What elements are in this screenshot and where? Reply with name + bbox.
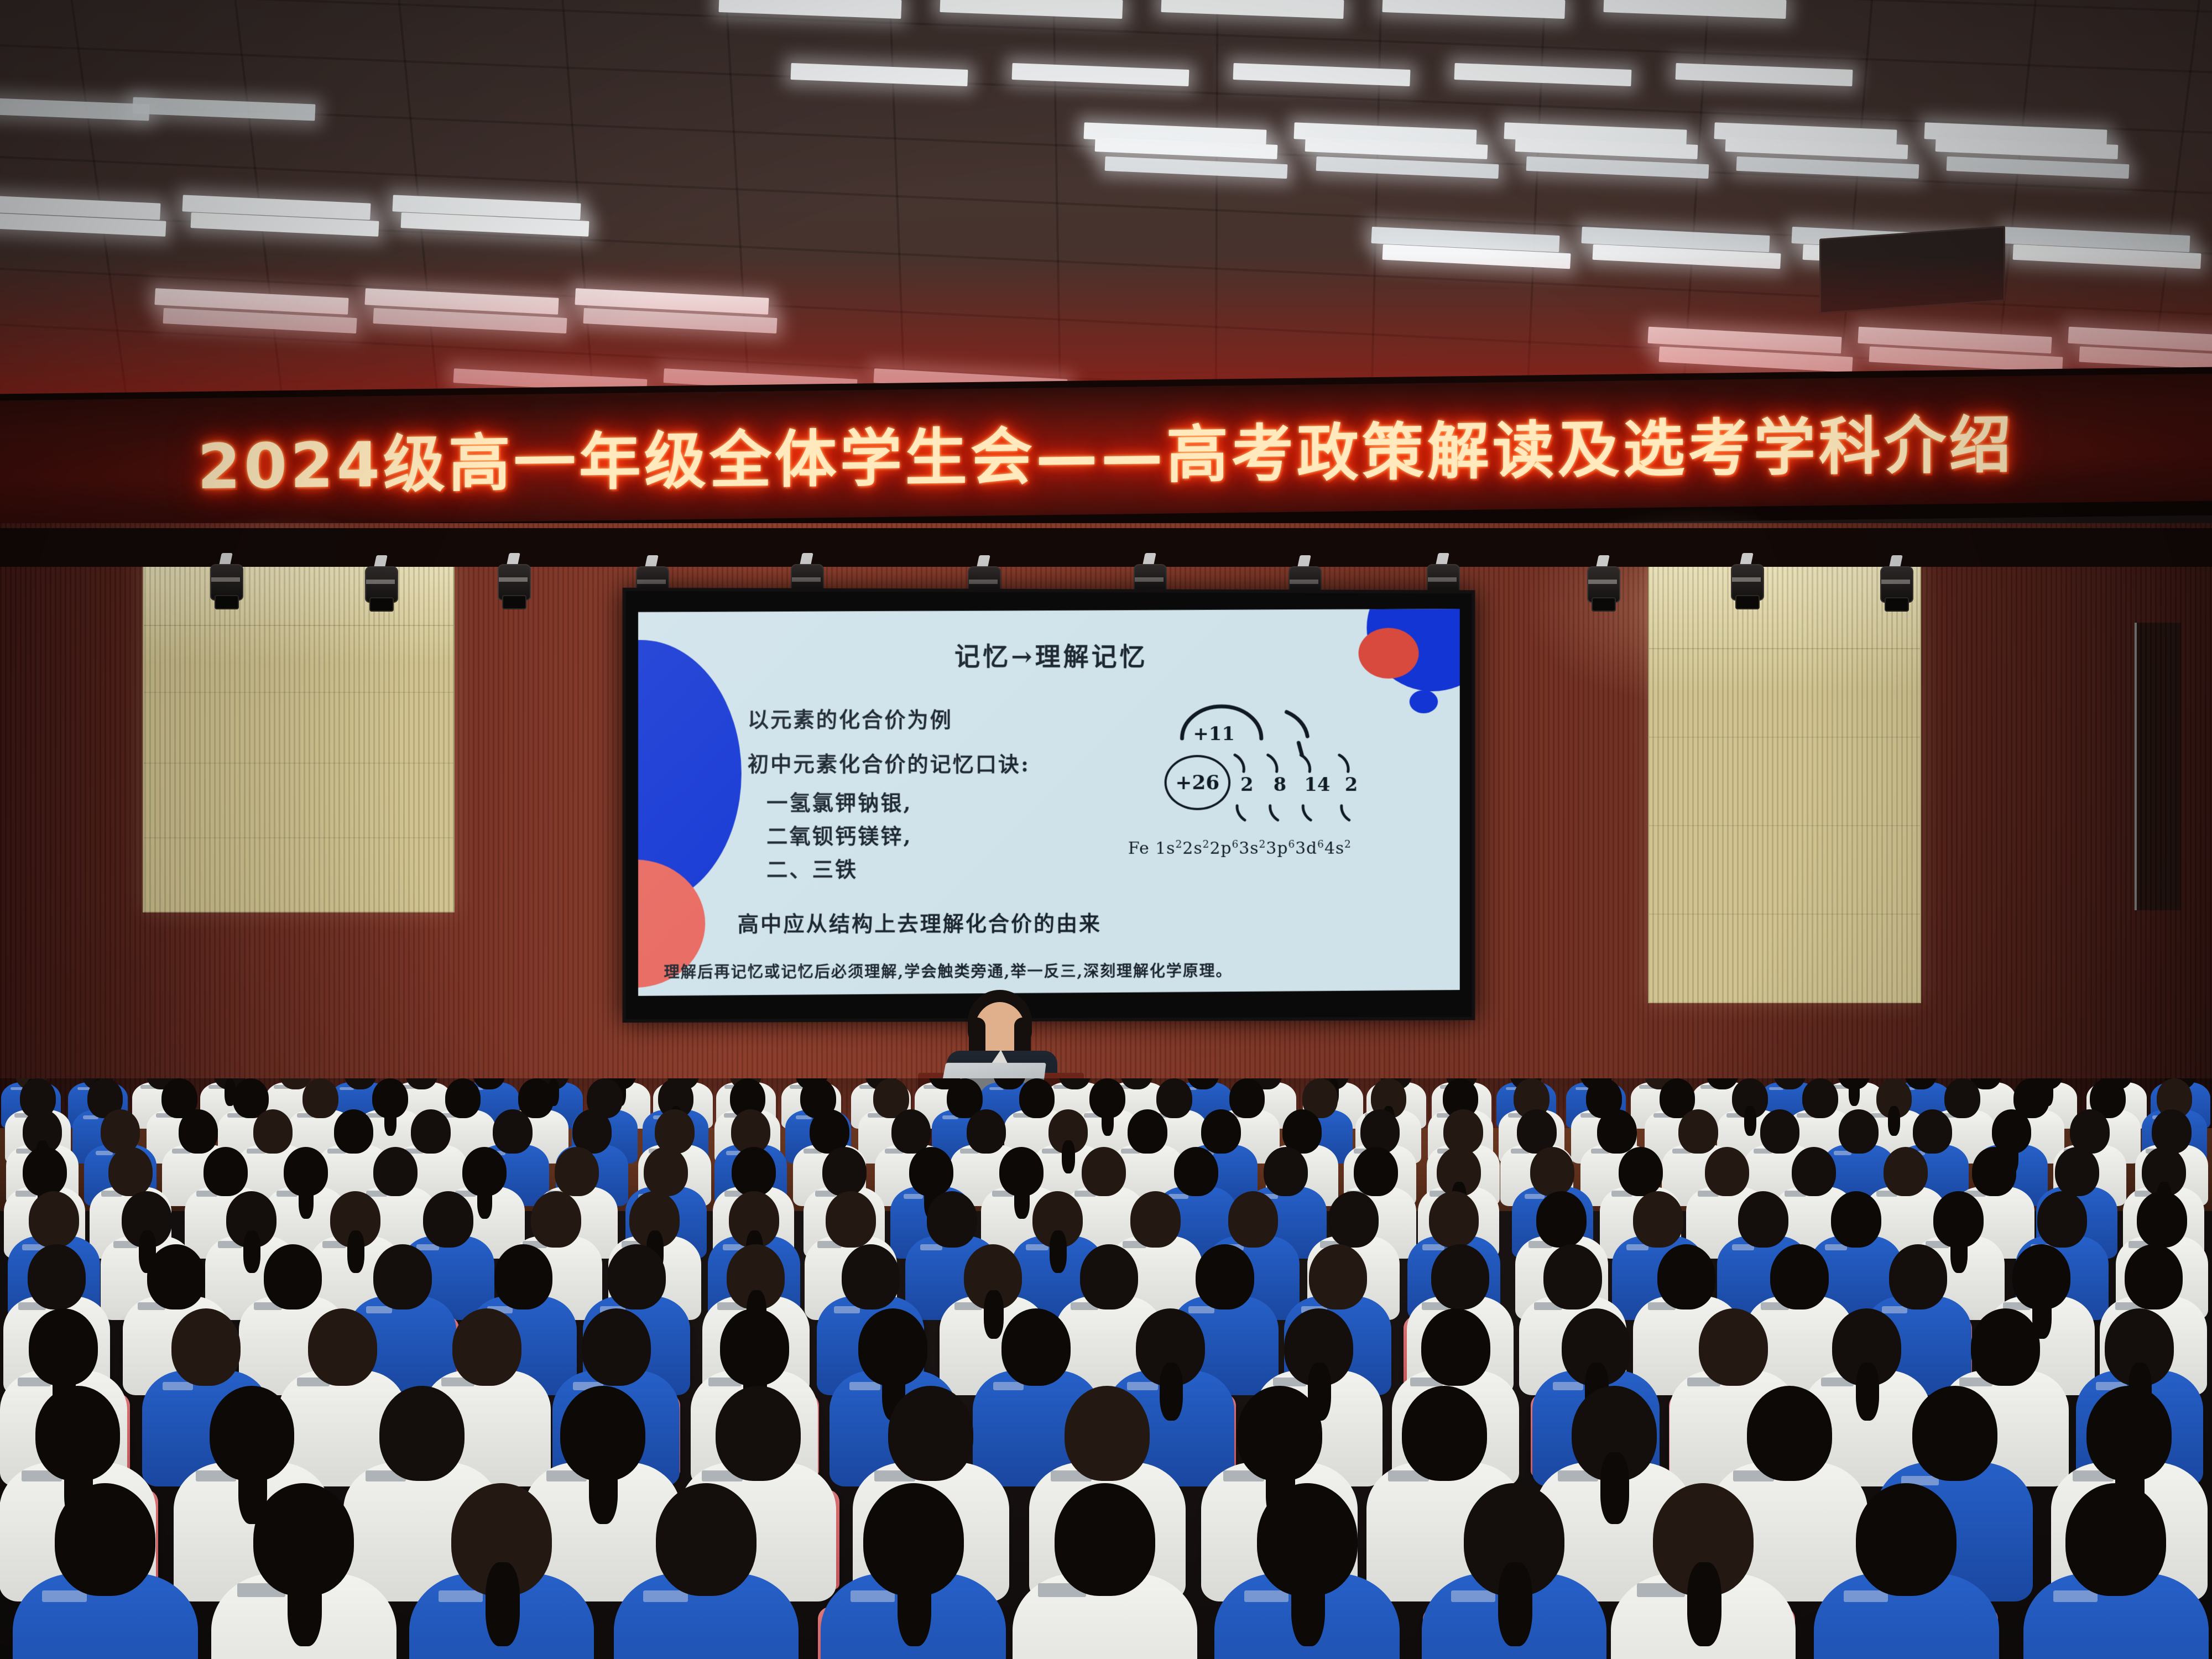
audience-student-head <box>2055 1147 2099 1197</box>
audience-student-head <box>1354 1147 1398 1197</box>
audience-student-head <box>28 1244 86 1310</box>
audience-student-head <box>264 1244 322 1310</box>
acoustic-panel-right <box>1648 559 1921 1003</box>
audience-student-head <box>1174 1147 1218 1197</box>
audience-student-ponytail <box>243 1230 260 1272</box>
audience-student-head <box>1597 1109 1636 1154</box>
audience-student-head <box>1128 1109 1167 1154</box>
shell-count-2: 8 <box>1274 774 1287 796</box>
atom-nucleus: +26 <box>1165 755 1230 810</box>
audience-student-head <box>607 1244 665 1310</box>
slide-decor-blue-dot <box>1410 690 1438 713</box>
audience-student-ponytail <box>984 1290 1004 1339</box>
audience-student-ponytail <box>1849 1079 1860 1106</box>
audience-student-head <box>493 1109 532 1154</box>
audience-student-head <box>582 1308 651 1386</box>
audience-student-head <box>1536 1191 1587 1248</box>
audience-student-head <box>1944 1078 1980 1118</box>
audience-student-head <box>1080 1244 1138 1310</box>
shell-count-3: 14 <box>1304 774 1330 796</box>
audience-student-head <box>373 1147 418 1197</box>
audience-student-head <box>1972 1147 2016 1197</box>
audience-student-head <box>1543 1244 1601 1310</box>
audience-student-head <box>452 1308 521 1386</box>
audience-student-ponytail <box>1888 1106 1900 1136</box>
audience-student-head <box>2137 1191 2187 1248</box>
audience-student-ponytail <box>1744 1106 1756 1136</box>
audience-student-head <box>494 1244 552 1310</box>
audience-student-head <box>1156 1078 1192 1118</box>
stage-spotlight <box>1880 555 1911 613</box>
audience-student-ponytail <box>1687 1562 1721 1647</box>
audience-student-head <box>2152 1109 2191 1154</box>
audience-student-head <box>1770 1244 1828 1310</box>
audience-student-head <box>1678 1109 1718 1154</box>
presentation-slide: 记忆→理解记忆 以元素的化合价为例 初中元素化合价的记忆口诀: 一氢氯钾钠银, … <box>638 607 1460 996</box>
audience-student-head <box>1055 1483 1155 1596</box>
audience-student-head <box>1402 1386 1487 1481</box>
audience-student-head <box>204 1147 248 1197</box>
audience-student-head <box>445 1078 481 1118</box>
audience-student-ponytail <box>1050 1230 1067 1272</box>
audience-student-head <box>891 1109 931 1154</box>
banner-title-text: 2024级高一年级全体学生会——高考政策解读及选考学科介绍 <box>0 393 2212 509</box>
audience-student-head <box>1705 1147 1749 1197</box>
stage-spotlight <box>1587 555 1618 613</box>
audience-student-ponytail <box>1600 1452 1629 1524</box>
audience-student-head <box>1328 1191 1379 1248</box>
audience-student-head <box>531 1191 581 1248</box>
audience-student-head <box>108 1147 153 1197</box>
side-door <box>2135 623 2181 910</box>
audience-student-head <box>1001 1308 1071 1386</box>
audience-student-ponytail <box>288 1562 322 1647</box>
audience-student-head <box>147 1244 205 1310</box>
audience-student-head <box>1889 1244 1947 1310</box>
audience-student-head <box>1196 1244 1254 1310</box>
audience-student-head <box>55 1483 155 1596</box>
audience-student-head <box>1309 1244 1367 1310</box>
audience-student-head <box>334 1109 373 1154</box>
audience-student-head <box>1971 1308 2040 1386</box>
slide-mnemonic-line-1: 一氢氯钾钠银, <box>766 786 912 816</box>
audience-student-head <box>1228 1191 1279 1248</box>
audience-student-head <box>1738 1191 1788 1248</box>
audience-student-ponytail <box>1498 1562 1532 1647</box>
audience-student-head <box>555 1147 599 1197</box>
ceiling <box>0 0 2212 420</box>
audience-student-head <box>927 1191 977 1248</box>
audience-student-head <box>1431 1244 1489 1310</box>
audience-student-head <box>1802 1078 1838 1118</box>
audience-student-ponytail <box>1291 1562 1326 1647</box>
audience-student-head <box>411 1109 450 1154</box>
audience-student-head <box>302 1078 338 1118</box>
audience-student-head <box>29 1191 79 1248</box>
audience-student-head <box>1019 1078 1055 1118</box>
audience-student-head <box>1913 1109 1952 1154</box>
audience-student-head <box>842 1244 900 1310</box>
slide-decor-blue-topright <box>1366 607 1459 691</box>
slide-mnemonic-heading: 初中元素化合价的记忆口诀: <box>748 747 1030 778</box>
audience-student-ponytail <box>898 1562 932 1647</box>
stage-spotlight <box>1731 553 1762 611</box>
audience-student-head <box>2125 1244 2183 1310</box>
slide-decor-red-topright <box>1359 628 1419 679</box>
audience-student-ponytail <box>589 1452 618 1524</box>
audience-student-head <box>1229 1078 1265 1118</box>
electron-configuration: Fe 1s22s22p63s23p63d64s2 <box>1128 839 1352 858</box>
slide-title: 记忆→理解记忆 <box>638 635 1460 674</box>
audience-student-ponytail <box>486 1562 520 1647</box>
audience-student-head <box>1619 1147 1663 1197</box>
audience-seating <box>0 1078 2212 1659</box>
audience-student-head <box>2065 1483 2166 1596</box>
audience-student-head <box>826 1191 876 1248</box>
slide-mnemonic-line-2: 二氧钡钙镁锌, <box>766 819 912 849</box>
audience-student-head <box>518 1078 554 1118</box>
audience-student-head <box>1884 1147 1928 1197</box>
audience-student-head <box>1633 1191 1683 1248</box>
audience-student-head <box>1856 1483 1957 1596</box>
audience-student-head <box>1831 1191 1881 1248</box>
audience-student-ponytail <box>1102 1106 1114 1136</box>
audience-student-head <box>1429 1191 1479 1248</box>
audience-student-head <box>888 1386 973 1481</box>
audience-student-head <box>1912 1386 1997 1481</box>
slide-decor-red-left <box>638 859 705 988</box>
audience-student-head <box>1065 1386 1150 1481</box>
audience-student-ponytail <box>1014 1182 1029 1219</box>
audience-student-head <box>308 1308 377 1386</box>
audience-student-head <box>1530 1147 1574 1197</box>
audience-student-head <box>967 1109 1006 1154</box>
bohr-atom-diagram: +11 +26 2 8 14 2 <box>1160 702 1396 829</box>
audience-student-ponytail <box>477 1182 492 1219</box>
stage-spotlight <box>210 553 241 611</box>
audience-student-head <box>1264 1147 1308 1197</box>
audience-student-head <box>179 1109 218 1154</box>
atom-annotation: +11 <box>1193 723 1234 745</box>
slide-example-label: 以元素的化合价为例 <box>748 702 953 733</box>
audience-student-head <box>644 1147 688 1197</box>
audience-student-head <box>732 1147 776 1197</box>
audience-student-ponytail <box>384 1106 397 1136</box>
slide-highschool-line: 高中应从结构上去理解化合价的由来 <box>738 906 1102 937</box>
shell-count-1: 2 <box>1240 774 1254 796</box>
audience-student-head <box>1760 1109 1799 1154</box>
slide-decor-blue-left <box>638 640 742 907</box>
stage-spotlight <box>365 555 396 613</box>
audience-student-head <box>1201 1109 1240 1154</box>
projection-screen: 记忆→理解记忆 以元素的化合价为例 初中元素化合价的记忆口诀: 一氢氯钾钠银, … <box>623 588 1475 1023</box>
audience-student-ponytail <box>347 1230 364 1272</box>
shell-count-4: 2 <box>1345 774 1358 796</box>
audience-student-head <box>373 1244 431 1310</box>
audience-student-ponytail <box>1950 1230 1968 1272</box>
audience-student-head <box>379 1386 465 1481</box>
audience-student-head <box>423 1191 473 1248</box>
audience-student-head <box>171 1308 241 1386</box>
audience-student-ponytail <box>1856 1363 1880 1421</box>
audience-student-head <box>822 1147 867 1197</box>
audience-student-head <box>253 1109 293 1154</box>
audience-student-head <box>1747 1386 1832 1481</box>
slide-footer-line: 理解后再记忆或记忆后必须理解,学会触类旁通,举一反三,深刻理解化学原理。 <box>664 959 1233 982</box>
audience-student-head <box>1082 1147 1126 1197</box>
audience-student-head <box>716 1386 801 1481</box>
audience-student-head <box>1130 1191 1181 1248</box>
audience-student-head <box>1792 1147 1836 1197</box>
auditorium-photo: 2024级高一年级全体学生会——高考政策解读及选考学科介绍 <box>0 0 2212 1659</box>
audience-student-ponytail <box>299 1182 314 1219</box>
audience-student-head <box>1699 1308 1768 1386</box>
slide-mnemonic-line-3: 二、三铁 <box>766 852 858 883</box>
audience-student-head <box>2037 1191 2088 1248</box>
audience-student-ponytail <box>1062 1140 1075 1173</box>
stage-spotlight <box>498 553 529 611</box>
audience-student-ponytail <box>1160 1363 1183 1421</box>
audience-student-head <box>1839 1109 1878 1154</box>
audience-student-head <box>1421 1308 1490 1386</box>
audience-student-head <box>656 1483 757 1596</box>
audience-student-head <box>1657 1244 1715 1310</box>
atom-shell-arcs <box>1160 702 1396 829</box>
